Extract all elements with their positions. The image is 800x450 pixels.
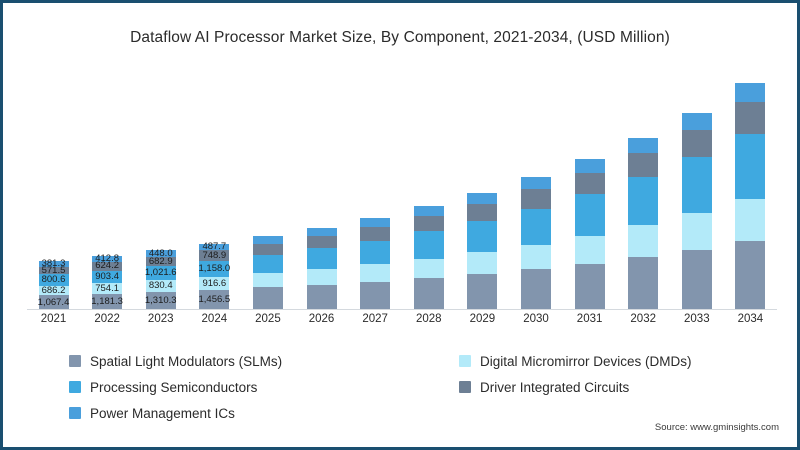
bar-value-label: 830.4: [149, 281, 173, 291]
legend-item[interactable]: Driver Integrated Circuits: [459, 380, 729, 395]
bar-segment[interactable]: [575, 264, 605, 310]
bar-segment[interactable]: [575, 236, 605, 264]
bar-segment[interactable]: [682, 113, 712, 130]
bar-segment[interactable]: [735, 102, 765, 133]
bar-segment[interactable]: 800.6: [39, 274, 69, 285]
bar-segment[interactable]: [575, 159, 605, 173]
bar-segment[interactable]: [360, 241, 390, 265]
bar-segment[interactable]: [414, 259, 444, 279]
x-axis-tick-2024: 2024: [188, 313, 241, 333]
bar-segment[interactable]: [521, 209, 551, 245]
bar-segment[interactable]: [467, 204, 497, 221]
bar-column: 487.7748.91,158.0916.61,456.5: [188, 75, 241, 310]
x-axis-tick-2023: 2023: [134, 313, 187, 333]
x-axis-tick-2026: 2026: [295, 313, 348, 333]
bar-segment[interactable]: 1,067.4: [39, 295, 69, 310]
stacked-bar[interactable]: [467, 193, 497, 310]
bar-segment[interactable]: [253, 236, 283, 243]
bar-column: [456, 75, 509, 310]
bar-segment[interactable]: 1,181.3: [92, 294, 122, 310]
stacked-bar[interactable]: [521, 177, 551, 310]
bar-segment[interactable]: [521, 269, 551, 310]
bar-value-label: 1,021.6: [145, 268, 177, 278]
x-axis-tick-2028: 2028: [402, 313, 455, 333]
bar-segment[interactable]: 830.4: [146, 280, 176, 292]
bar-segment[interactable]: 916.6: [199, 277, 229, 290]
bar-column: 381.3571.5800.6686.21,067.4: [27, 75, 80, 310]
bar-segment[interactable]: [253, 244, 283, 255]
bar-value-label: 624.2: [95, 261, 119, 271]
bar-value-label: 754.1: [95, 284, 119, 294]
bar-segment[interactable]: [682, 130, 712, 158]
bar-segment[interactable]: [575, 173, 605, 195]
bar-segment[interactable]: 487.7: [199, 244, 229, 251]
bar-segment[interactable]: [575, 194, 605, 236]
legend-item[interactable]: Spatial Light Modulators (SLMs): [69, 354, 459, 369]
bar-value-label: 1,067.4: [38, 298, 70, 308]
stacked-bar[interactable]: [360, 218, 390, 310]
bar-segment[interactable]: [521, 245, 551, 270]
bar-segment[interactable]: 686.2: [39, 286, 69, 296]
legend-item-label: Driver Integrated Circuits: [480, 380, 629, 395]
stacked-bar[interactable]: [307, 228, 337, 310]
x-axis-tick-2032: 2032: [617, 313, 670, 333]
legend-color-swatch-icon: [69, 355, 81, 367]
chart-legend: Spatial Light Modulators (SLMs)Digital M…: [69, 348, 729, 426]
bar-segment[interactable]: [628, 153, 658, 177]
stacked-bar[interactable]: 448.0682.91,021.6830.41,310.3: [146, 250, 176, 310]
legend-color-swatch-icon: [459, 355, 471, 367]
stacked-bar[interactable]: [628, 138, 658, 310]
bar-segment[interactable]: [253, 255, 283, 273]
chart-container: Dataflow AI Processor Market Size, By Co…: [0, 0, 800, 450]
stacked-bar[interactable]: 381.3571.5800.6686.21,067.4: [39, 261, 69, 310]
bar-segment[interactable]: [307, 269, 337, 285]
stacked-bar[interactable]: 412.8624.2903.4754.11,181.3: [92, 256, 122, 310]
bar-segment[interactable]: [735, 241, 765, 310]
bar-segment[interactable]: 571.5: [39, 267, 69, 275]
bar-segment[interactable]: [414, 216, 444, 231]
x-axis-tick-2034: 2034: [724, 313, 777, 333]
source-credit: Source: www.gminsights.com: [655, 422, 779, 433]
bar-column: [241, 75, 294, 310]
legend-item-label: Processing Semiconductors: [90, 380, 257, 395]
x-axis-tick-2033: 2033: [670, 313, 723, 333]
x-axis-tick-2025: 2025: [241, 313, 294, 333]
bar-segment[interactable]: [360, 282, 390, 310]
bar-segment[interactable]: [360, 218, 390, 227]
bar-segment[interactable]: [414, 206, 444, 216]
bar-segment[interactable]: [307, 285, 337, 310]
x-axis-tick-2027: 2027: [349, 313, 402, 333]
bar-value-label: 1,310.3: [145, 296, 177, 306]
bar-value-label: 1,181.3: [91, 297, 123, 307]
legend-item[interactable]: Digital Micromirror Devices (DMDs): [459, 354, 729, 369]
bar-segment[interactable]: [467, 274, 497, 310]
bar-column: [563, 75, 616, 310]
bar-value-label: 1,456.5: [198, 295, 230, 305]
bar-value-label: 916.6: [202, 279, 226, 289]
bar-segment[interactable]: [628, 138, 658, 153]
plot-area: 381.3571.5800.6686.21,067.4412.8624.2903…: [27, 75, 777, 310]
bar-segment[interactable]: [467, 252, 497, 274]
bar-value-label: 682.9: [149, 257, 173, 267]
bar-segment[interactable]: [253, 273, 283, 287]
bar-segment[interactable]: [307, 236, 337, 249]
x-axis-tick-2022: 2022: [81, 313, 134, 333]
bar-column: [617, 75, 670, 310]
bar-segment[interactable]: [682, 213, 712, 250]
x-axis-tick-2031: 2031: [563, 313, 616, 333]
x-axis-tick-labels: 2021202220232024202520262027202820292030…: [27, 313, 777, 333]
bar-value-label: 748.9: [202, 251, 226, 261]
bar-column: [295, 75, 348, 310]
bar-segment[interactable]: [735, 134, 765, 199]
bar-value-label: 1,158.0: [198, 264, 230, 274]
bar-segment[interactable]: [628, 177, 658, 225]
legend-color-swatch-icon: [459, 381, 471, 393]
bar-segment[interactable]: [467, 221, 497, 252]
bar-segment[interactable]: 754.1: [92, 283, 122, 293]
bar-segment[interactable]: 682.9: [146, 257, 176, 267]
legend-color-swatch-icon: [69, 381, 81, 393]
bar-segment[interactable]: [628, 225, 658, 257]
legend-item-label: Power Management ICs: [90, 406, 235, 421]
stacked-bar[interactable]: [682, 113, 712, 310]
bar-column: [349, 75, 402, 310]
bar-segment[interactable]: [307, 228, 337, 236]
bar-segment[interactable]: [253, 287, 283, 310]
bar-segment[interactable]: [414, 278, 444, 310]
legend-item[interactable]: Processing Semiconductors: [69, 380, 459, 395]
bar-group: 381.3571.5800.6686.21,067.4412.8624.2903…: [27, 75, 777, 310]
bar-segment[interactable]: [360, 227, 390, 241]
legend-item[interactable]: Power Management ICs: [69, 406, 459, 421]
bar-segment[interactable]: [628, 257, 658, 310]
legend-item-label: Spatial Light Modulators (SLMs): [90, 354, 282, 369]
bar-segment[interactable]: 1,021.6: [146, 266, 176, 280]
bar-segment[interactable]: [682, 250, 712, 310]
bar-segment[interactable]: 1,158.0: [199, 261, 229, 277]
bar-column: [670, 75, 723, 310]
bar-segment[interactable]: 903.4: [92, 271, 122, 284]
chart-title: Dataflow AI Processor Market Size, By Co…: [3, 29, 797, 47]
bar-segment[interactable]: [467, 193, 497, 204]
bar-segment[interactable]: [360, 264, 390, 282]
bar-column: [724, 75, 777, 310]
bar-segment[interactable]: 1,310.3: [146, 292, 176, 310]
x-axis-line: [27, 309, 777, 310]
x-axis-tick-2021: 2021: [27, 313, 80, 333]
x-axis-tick-2029: 2029: [456, 313, 509, 333]
legend-item-label: Digital Micromirror Devices (DMDs): [480, 354, 692, 369]
stacked-bar[interactable]: [735, 83, 765, 310]
stacked-bar[interactable]: [253, 236, 283, 310]
stacked-bar[interactable]: [414, 206, 444, 310]
x-axis-tick-2030: 2030: [509, 313, 562, 333]
bar-value-label: 800.6: [42, 275, 66, 285]
bar-column: 412.8624.2903.4754.11,181.3: [81, 75, 134, 310]
legend-color-swatch-icon: [69, 407, 81, 419]
bar-segment[interactable]: 624.2: [92, 262, 122, 271]
bar-segment[interactable]: [414, 231, 444, 258]
bar-segment[interactable]: [307, 248, 337, 269]
stacked-bar[interactable]: 487.7748.91,158.0916.61,456.5: [199, 244, 229, 310]
bar-segment[interactable]: [735, 83, 765, 102]
bar-column: [402, 75, 455, 310]
bar-segment[interactable]: [735, 199, 765, 241]
bar-segment[interactable]: 748.9: [199, 250, 229, 260]
stacked-bar[interactable]: [575, 159, 605, 310]
bar-column: 448.0682.91,021.6830.41,310.3: [134, 75, 187, 310]
bar-value-label: 686.2: [42, 286, 66, 296]
bar-column: [509, 75, 562, 310]
bar-value-label: 903.4: [95, 272, 119, 282]
bar-segment[interactable]: [682, 157, 712, 213]
bar-segment[interactable]: 1,456.5: [199, 290, 229, 310]
bar-segment[interactable]: [521, 177, 551, 189]
bar-segment[interactable]: [521, 189, 551, 208]
